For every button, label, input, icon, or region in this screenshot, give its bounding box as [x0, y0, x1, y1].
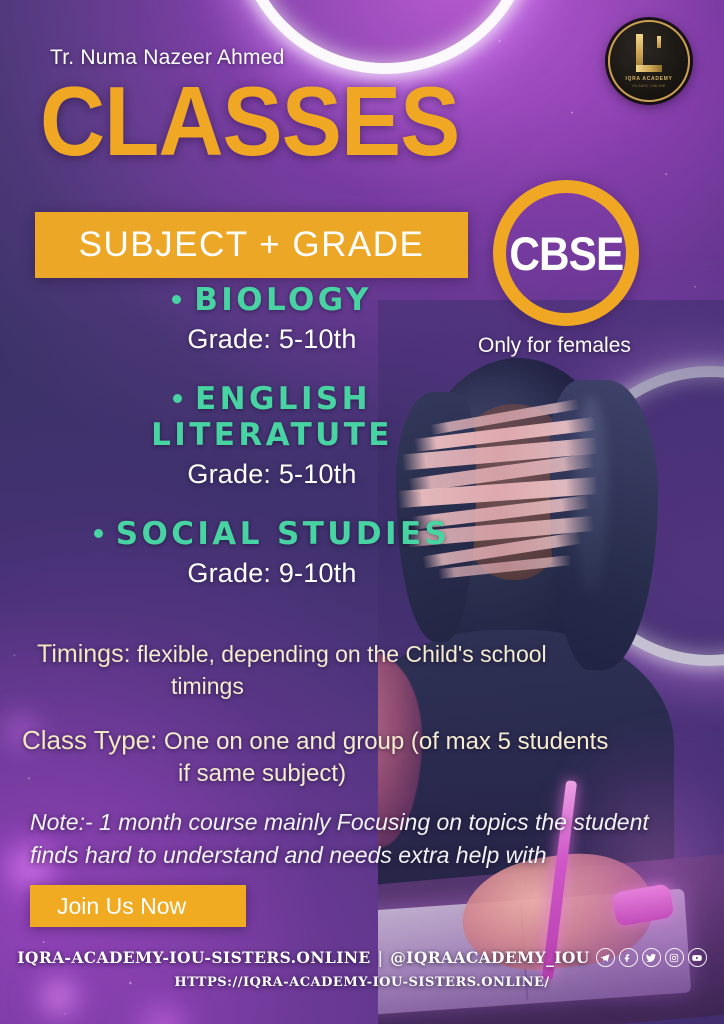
twitter-icon[interactable]: [642, 948, 661, 967]
class-type-value: One on one and group (of max 5 students: [164, 728, 608, 755]
logo-name: IQRA ACADEMY: [625, 76, 672, 82]
subject-grade: Grade: 5-10th: [24, 324, 520, 355]
poster-root: Tr. Numa Nazeer Ahmed CLASSES IQRA ACADE…: [0, 0, 724, 1024]
join-us-now-label: Join Us Now: [57, 893, 186, 920]
timings-label: Timings:: [37, 640, 131, 668]
subject-grade-label: SUBJECT + GRADE: [79, 225, 425, 265]
poster-content: Tr. Numa Nazeer Ahmed CLASSES IQRA ACADE…: [0, 0, 724, 1024]
subject-name-text: ENGLISH: [195, 381, 371, 417]
subject-name-text: BIOLOGY: [194, 282, 372, 318]
logo-tagline: ISLAMIC ONLINE: [632, 84, 666, 88]
class-type-value-line2: if same subject): [178, 758, 608, 789]
subject-grade: Grade: 5-10th: [24, 459, 520, 490]
timings-row: Timings: flexible, depending on the Chil…: [37, 638, 547, 701]
list-item: SOCIAL STUDIES Grade: 9-10th: [24, 516, 520, 589]
bullet-icon: [173, 394, 182, 403]
footer-website[interactable]: IQRA-ACADEMY-IOU-SISTERS.ONLINE: [17, 948, 370, 967]
subject-name-text: SOCIAL STUDIES: [116, 516, 451, 552]
subject-grade-banner: SUBJECT + GRADE: [35, 212, 468, 278]
footer-url[interactable]: HTTPS://IQRA-ACADEMY-IOU-SISTERS.ONLINE/: [0, 975, 724, 990]
class-type-row: Class Type: One on one and group (of max…: [22, 724, 608, 789]
iqra-academy-logo[interactable]: IQRA ACADEMY ISLAMIC ONLINE: [608, 20, 690, 102]
course-note: Note:- 1 month course mainly Focusing on…: [30, 806, 702, 871]
youtube-icon[interactable]: [688, 948, 707, 967]
social-links: [596, 948, 707, 967]
footer: IQRA-ACADEMY-IOU-SISTERS.ONLINE | @IQRAA…: [0, 948, 724, 990]
facebook-icon[interactable]: [619, 948, 638, 967]
page-title: CLASSES: [40, 74, 459, 168]
subject-name-text-line2: LITERATUTE: [24, 417, 520, 453]
bullet-icon: [172, 295, 181, 304]
subject-name: SOCIAL STUDIES: [24, 516, 520, 552]
timings-value-line2: timings: [171, 671, 547, 701]
list-item: BIOLOGY Grade: 5-10th: [24, 282, 520, 355]
logo-monogram-icon: [636, 34, 662, 72]
subject-name: BIOLOGY: [24, 282, 520, 318]
instagram-icon[interactable]: [665, 948, 684, 967]
subject-grade: Grade: 9-10th: [24, 558, 520, 589]
footer-separator: |: [378, 949, 384, 967]
class-type-label: Class Type:: [22, 725, 157, 755]
subject-list: BIOLOGY Grade: 5-10th ENGLISHLITERATUTE …: [0, 282, 520, 589]
list-item: ENGLISHLITERATUTE Grade: 5-10th: [24, 381, 520, 490]
join-us-now-button[interactable]: Join Us Now: [30, 885, 246, 927]
subject-name: ENGLISHLITERATUTE: [24, 381, 520, 453]
timings-value: flexible, depending on the Child's schoo…: [137, 641, 547, 667]
bullet-icon: [94, 529, 103, 538]
footer-handle[interactable]: @IQRAACADEMY_IOU: [390, 948, 589, 967]
footer-contact-line: IQRA-ACADEMY-IOU-SISTERS.ONLINE | @IQRAA…: [0, 948, 724, 967]
cbse-label: CBSE: [509, 226, 623, 281]
telegram-icon[interactable]: [596, 948, 615, 967]
